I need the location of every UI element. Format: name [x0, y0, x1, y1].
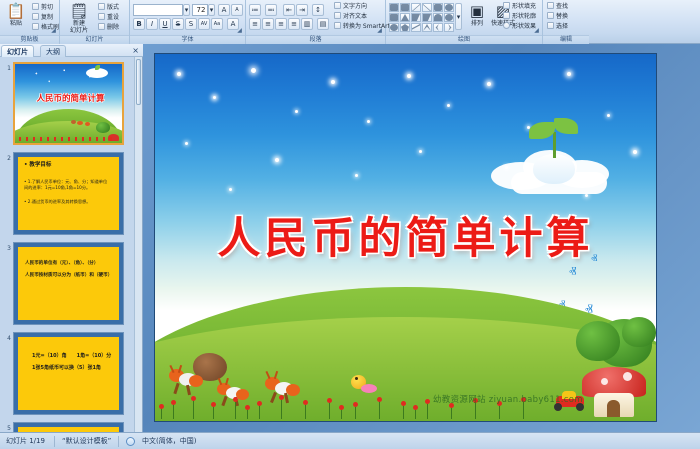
text-direction-label: 文字方向: [343, 3, 367, 10]
shape-outline-button[interactable]: 形状轮廓: [503, 12, 536, 21]
paste-button[interactable]: 📋 粘贴: [3, 3, 29, 27]
thumbnail-line: 人民币的单位有（元）、（角）、（分）: [25, 261, 99, 267]
thumbnail-line: 1张5角纸币可以换（5）张1角: [32, 365, 101, 371]
thumbnail-number: 4: [3, 335, 11, 342]
spellcheck-icon[interactable]: [126, 437, 135, 446]
font-size-dropdown[interactable]: ▾: [208, 4, 215, 16]
replace-button[interactable]: 替换: [547, 12, 568, 21]
select-label: 选择: [556, 23, 568, 30]
reset-label: 重设: [107, 14, 119, 21]
ribbon-group-slides-label: 幻灯片: [60, 35, 129, 44]
ribbon-group-paragraph: ≔ ≕ ⇤ ⇥ ↕ ≡ ≡ ≡ ≡ ▥ ▤ 文字方向 对齐文本 转换为 Smar…: [246, 0, 386, 44]
thumbnail-line: 人民币按材质可以分为（纸币）和（硬币）: [25, 273, 112, 279]
delete-icon: [98, 23, 105, 30]
clipboard-dialog-launcher[interactable]: ◢: [50, 27, 57, 34]
bullets-button[interactable]: ≔: [249, 4, 261, 16]
copy-label: 复制: [41, 14, 53, 21]
arrange-icon: ▣: [465, 3, 489, 20]
arrange-label: 排列: [471, 20, 483, 27]
new-slide-button[interactable]: 🗒 新建 幻灯片: [64, 3, 94, 34]
ribbon-group-editing: 查找 替换 选择 编辑: [543, 0, 593, 44]
drawing-dialog-launcher[interactable]: ◢: [533, 27, 540, 34]
cut-label: 剪切: [41, 4, 53, 11]
italic-button[interactable]: I: [146, 18, 158, 30]
select-button[interactable]: 选择: [547, 22, 568, 31]
shape-effects-button[interactable]: 形状效果: [503, 22, 536, 31]
ribbon: 📋 粘贴 剪切 复制 格式刷 ◢ 剪贴板 🗒 新: [0, 0, 700, 44]
ribbon-group-font-label: 字体: [130, 35, 245, 44]
increase-indent-button[interactable]: ⇥: [296, 4, 308, 16]
font-size-input[interactable]: 72: [192, 4, 208, 16]
align-left-button[interactable]: ≡: [249, 18, 261, 30]
shape-effects-icon: [503, 22, 510, 29]
close-pane-button[interactable]: ×: [132, 46, 139, 55]
slide-counter[interactable]: 幻灯片 1/19: [6, 433, 45, 449]
leaf-right-icon: [554, 118, 578, 134]
thumbnail-scrollbar[interactable]: [134, 57, 142, 432]
thumbnail-slide-1[interactable]: 人民币的简单计算: [13, 62, 124, 145]
align-center-button[interactable]: ≡: [262, 18, 274, 30]
align-text-label: 对齐文本: [343, 13, 367, 20]
copy-button[interactable]: 复制: [32, 13, 53, 22]
font-name-input[interactable]: [133, 4, 183, 16]
thumbnail-line: • 教学目标: [24, 162, 51, 168]
reset-icon: [98, 13, 105, 20]
shapes-more-button[interactable]: ▾: [455, 3, 462, 30]
shape-outline-icon: [503, 12, 510, 19]
arrange-button[interactable]: ▣ 排列: [465, 3, 489, 27]
bold-button[interactable]: B: [133, 18, 145, 30]
tab-slides[interactable]: 幻灯片: [1, 45, 34, 57]
decrease-indent-button[interactable]: ⇤: [283, 4, 295, 16]
layout-icon: [98, 3, 105, 10]
line-spacing-button[interactable]: ↕: [312, 4, 324, 16]
cut-button[interactable]: 剪切: [32, 3, 53, 12]
font-name-dropdown[interactable]: ▾: [183, 4, 190, 16]
numbering-button[interactable]: ≕: [265, 4, 277, 16]
find-button[interactable]: 查找: [547, 2, 568, 11]
thumbnail-line: 1元=（10）角 1角=（10）分: [32, 353, 111, 359]
paste-icon: 📋: [3, 3, 29, 20]
ribbon-group-paragraph-label: 段落: [246, 35, 385, 44]
new-slide-icon: 🗒: [64, 3, 94, 20]
thumbnail-line: 间的进率：1元=10角,1角=10分。: [24, 185, 90, 191]
ribbon-group-clipboard-label: 剪贴板: [0, 35, 59, 44]
format-painter-icon: [32, 23, 39, 30]
shape-fill-label: 形状填充: [512, 3, 536, 10]
align-text-button[interactable]: 对齐文本: [334, 12, 367, 21]
ribbon-group-clipboard: 📋 粘贴 剪切 复制 格式刷 ◢ 剪贴板: [0, 0, 60, 44]
reset-button[interactable]: 重设: [98, 13, 119, 22]
find-label: 查找: [556, 3, 568, 10]
justify-button[interactable]: ≡: [288, 18, 300, 30]
design-template-name[interactable]: “默认设计模板”: [62, 433, 111, 449]
watermark-text: 幼教资源网站 ziyuan.baby611.com: [433, 393, 583, 405]
thumbnail-number: 2: [3, 155, 11, 162]
text-direction-icon: [334, 2, 341, 9]
thumbnail-scrollbar-thumb[interactable]: [136, 59, 141, 105]
tab-outline[interactable]: 大纲: [40, 45, 66, 57]
align-text-icon: [334, 12, 341, 19]
pane-tabbar: 幻灯片 大纲 ×: [0, 44, 143, 57]
powerpoint-window: 📋 粘贴 剪切 复制 格式刷 ◢ 剪贴板 🗒 新: [0, 0, 700, 449]
ribbon-group-drawing: ▾ ▣ 排列 ▨ 快速样式 形状填充 形状轮廓 形状效果: [386, 0, 543, 44]
character-spacing-button[interactable]: AV: [198, 18, 210, 30]
status-bar: 幻灯片 1/19 “默认设计模板” 中文(简体，中国): [0, 432, 700, 449]
slides-pane: 幻灯片 大纲 × 1 人民币的简单计算: [0, 44, 143, 432]
underline-button[interactable]: U: [159, 18, 171, 30]
current-slide[interactable]: 人民币的简单计算: [155, 54, 656, 421]
replace-label: 替换: [556, 13, 568, 20]
new-slide-label: 新建 幻灯片: [70, 20, 88, 34]
ribbon-group-slides: 🗒 新建 幻灯片 版式 重设 删除 幻灯片: [60, 0, 130, 44]
delete-slide-button[interactable]: 删除: [98, 23, 119, 32]
align-right-button[interactable]: ≡: [275, 18, 287, 30]
ribbon-group-font: ▾ 72 ▾ A A B I U S S AV Aa A ◢ 字体: [130, 0, 246, 44]
thumbnail-number: 3: [3, 245, 11, 252]
align-text-box-button[interactable]: ▤: [317, 18, 329, 30]
layout-button[interactable]: 版式: [98, 3, 119, 12]
smartart-icon: [334, 22, 341, 29]
replace-icon: [547, 12, 554, 19]
select-icon: [547, 22, 554, 29]
leaf-left-icon: [529, 122, 555, 139]
paragraph-dialog-launcher[interactable]: ◢: [376, 27, 383, 34]
shrink-font-button[interactable]: A: [231, 4, 243, 16]
language-indicator[interactable]: 中文(简体，中国): [142, 433, 196, 449]
paste-label: 粘贴: [10, 20, 22, 27]
slide-editor-stage[interactable]: 人民币的简单计算: [143, 44, 700, 432]
strikethrough-button[interactable]: S: [172, 18, 184, 30]
thumbnail-slide-2[interactable]: • 教学目标 • 1.了解人民币单位：元、角、分；知道单位 间的进率：1元=10…: [13, 152, 124, 235]
thumbnail-number: 5: [3, 425, 11, 432]
copy-icon: [32, 13, 39, 20]
shadow-button[interactable]: S: [185, 18, 197, 30]
find-icon: [547, 2, 554, 9]
delete-label: 删除: [107, 24, 119, 31]
text-direction-button[interactable]: 文字方向: [334, 2, 367, 11]
thumbnail-line: • 2.通过货币的进率及其转换思想。: [24, 199, 90, 205]
shape-fill-icon: [503, 2, 510, 9]
shape-fill-button[interactable]: 形状填充: [503, 2, 536, 11]
thumbnail-list[interactable]: 1 人民币的简单计算 2 • 教学目标: [0, 57, 142, 432]
change-case-button[interactable]: Aa: [211, 18, 223, 30]
columns-button[interactable]: ▥: [301, 18, 313, 30]
layout-label: 版式: [107, 4, 119, 11]
thumbnail-slide-4[interactable]: 1元=（10）角 1角=（10）分 1张5角纸币可以换（5）张1角: [13, 332, 124, 415]
thumbnail-number: 1: [3, 65, 11, 72]
shape-outline-label: 形状轮廓: [512, 13, 536, 20]
font-dialog-launcher[interactable]: ◢: [236, 27, 243, 34]
thumbnail-slide-3[interactable]: 人民币的单位有（元）、（角）、（分） 人民币按材质可以分为（纸币）和（硬币）: [13, 242, 124, 325]
ribbon-group-drawing-label: 绘图: [386, 35, 542, 44]
scissors-icon: [32, 3, 39, 10]
slide-title[interactable]: 人民币的简单计算: [155, 204, 656, 266]
ribbon-group-editing-label: 编辑: [543, 35, 589, 44]
